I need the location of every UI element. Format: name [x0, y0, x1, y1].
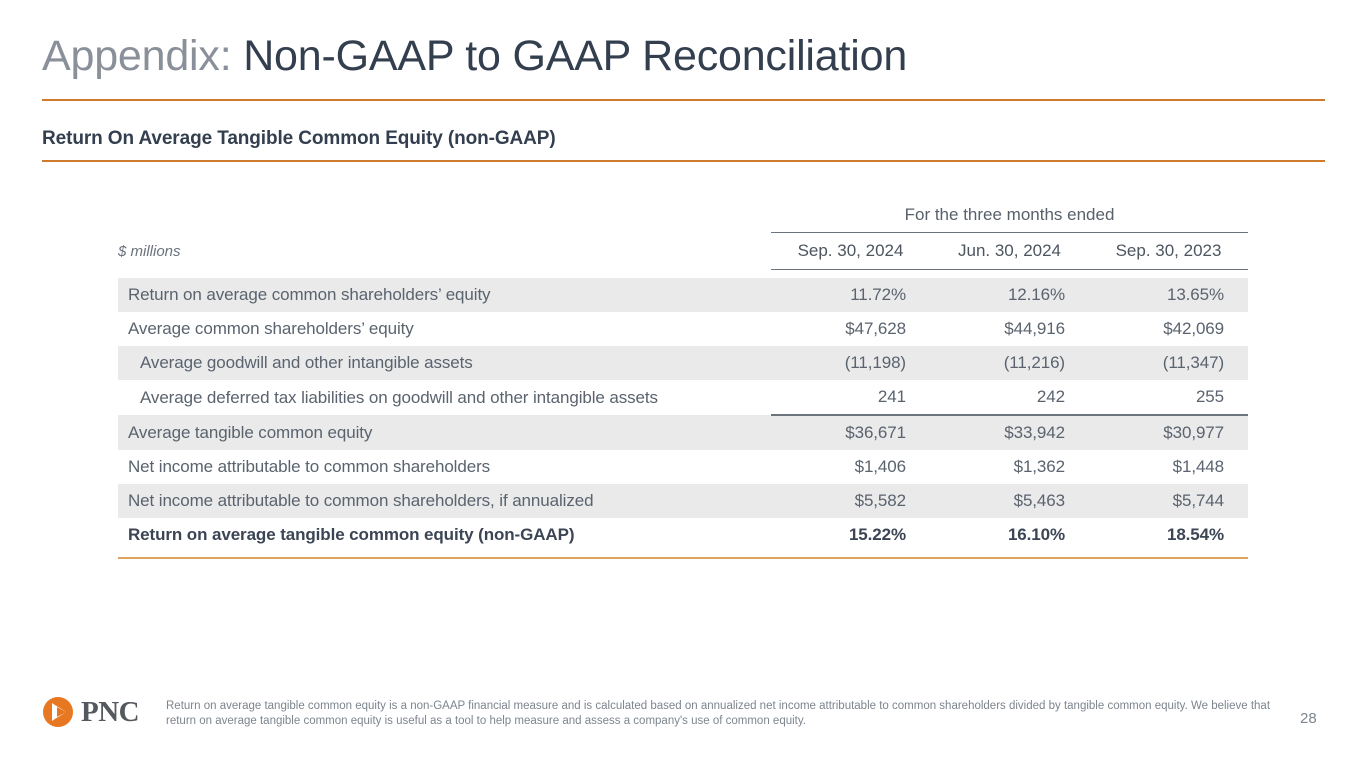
row-value: 242	[930, 380, 1089, 415]
reconciliation-table: For the three months ended $ millions Se…	[118, 198, 1248, 552]
table-body: Return on average common shareholders’ e…	[118, 278, 1248, 552]
column-header-1-label: Jun. 30, 2024	[930, 241, 1089, 261]
title-divider	[42, 99, 1325, 101]
table-row: Net income attributable to common shareh…	[118, 484, 1248, 518]
table-header-date-row: $ millions Sep. 30, 2024 Jun. 30, 2024 S…	[118, 233, 1248, 270]
column-header-1: Jun. 30, 2024	[930, 233, 1089, 270]
page-title: Appendix: Non-GAAP to GAAP Reconciliatio…	[42, 28, 1327, 84]
row-label: Return on average common shareholders’ e…	[118, 278, 771, 312]
row-value: 241	[771, 380, 930, 415]
table-bottom-divider	[118, 557, 1248, 559]
reconciliation-table-wrapper: For the three months ended $ millions Se…	[118, 198, 1248, 552]
table-head: For the three months ended $ millions Se…	[118, 198, 1248, 278]
table-row: Average deferred tax liabilities on good…	[118, 380, 1248, 415]
row-value: 18.54%	[1089, 518, 1248, 552]
row-value: $44,916	[930, 312, 1089, 346]
row-value: (11,198)	[771, 346, 930, 380]
page-number: 28	[1300, 710, 1317, 727]
pnc-wordmark: PNC	[81, 698, 139, 727]
header-gap-row	[118, 270, 1248, 279]
units-label: $ millions	[118, 233, 771, 270]
row-value: 13.65%	[1089, 278, 1248, 312]
pnc-logo-icon	[42, 696, 74, 728]
row-value: $5,582	[771, 484, 930, 518]
section-divider	[42, 160, 1325, 162]
footnote-text: Return on average tangible common equity…	[166, 699, 1281, 728]
column-header-0-label: Sep. 30, 2024	[771, 241, 930, 261]
page-title-prefix: Appendix:	[42, 32, 243, 80]
row-label: Net income attributable to common shareh…	[118, 484, 771, 518]
row-value: $5,744	[1089, 484, 1248, 518]
row-value: $1,362	[930, 450, 1089, 484]
row-value: 255	[1089, 380, 1248, 415]
row-label: Average deferred tax liabilities on good…	[118, 380, 771, 415]
page-title-main: Non-GAAP to GAAP Reconciliation	[243, 32, 907, 80]
row-label: Return on average tangible common equity…	[118, 518, 771, 552]
row-value: $36,671	[771, 415, 930, 450]
row-label: Average tangible common equity	[118, 415, 771, 450]
row-value: 11.72%	[771, 278, 930, 312]
header-gap-cell	[1089, 270, 1248, 279]
header-period-span: For the three months ended	[771, 198, 1248, 233]
row-value: 12.16%	[930, 278, 1089, 312]
section-heading: Return On Average Tangible Common Equity…	[42, 128, 556, 150]
table-row: Average goodwill and other intangible as…	[118, 346, 1248, 380]
row-label: Net income attributable to common shareh…	[118, 450, 771, 484]
slide-canvas: Appendix: Non-GAAP to GAAP Reconciliatio…	[0, 0, 1365, 768]
row-value: $5,463	[930, 484, 1089, 518]
table-row: Average tangible common equity$36,671$33…	[118, 415, 1248, 450]
row-value: $47,628	[771, 312, 930, 346]
slide-footer: PNC Return on average tangible common eq…	[0, 688, 1365, 748]
header-gap-cell	[118, 270, 771, 279]
table-row: Return on average tangible common equity…	[118, 518, 1248, 552]
column-header-0: Sep. 30, 2024	[771, 233, 930, 270]
title-block: Appendix: Non-GAAP to GAAP Reconciliatio…	[42, 28, 1327, 84]
row-value: $1,406	[771, 450, 930, 484]
table-header-span-row: For the three months ended	[118, 198, 1248, 233]
table-row: Net income attributable to common shareh…	[118, 450, 1248, 484]
column-header-2: Sep. 30, 2023	[1089, 233, 1248, 270]
table-row: Return on average common shareholders’ e…	[118, 278, 1248, 312]
row-value: 15.22%	[771, 518, 930, 552]
row-value: (11,347)	[1089, 346, 1248, 380]
column-header-2-label: Sep. 30, 2023	[1089, 241, 1248, 261]
row-value: 16.10%	[930, 518, 1089, 552]
row-value: $30,977	[1089, 415, 1248, 450]
row-value: $33,942	[930, 415, 1089, 450]
table-row: Average common shareholders’ equity$47,6…	[118, 312, 1248, 346]
header-gap-cell	[771, 270, 930, 279]
row-value: $1,448	[1089, 450, 1248, 484]
row-label: Average common shareholders’ equity	[118, 312, 771, 346]
row-label: Average goodwill and other intangible as…	[118, 346, 771, 380]
header-gap-cell	[930, 270, 1089, 279]
pnc-logo: PNC	[42, 696, 139, 728]
row-value: $42,069	[1089, 312, 1248, 346]
row-value: (11,216)	[930, 346, 1089, 380]
header-spacer	[118, 198, 771, 233]
